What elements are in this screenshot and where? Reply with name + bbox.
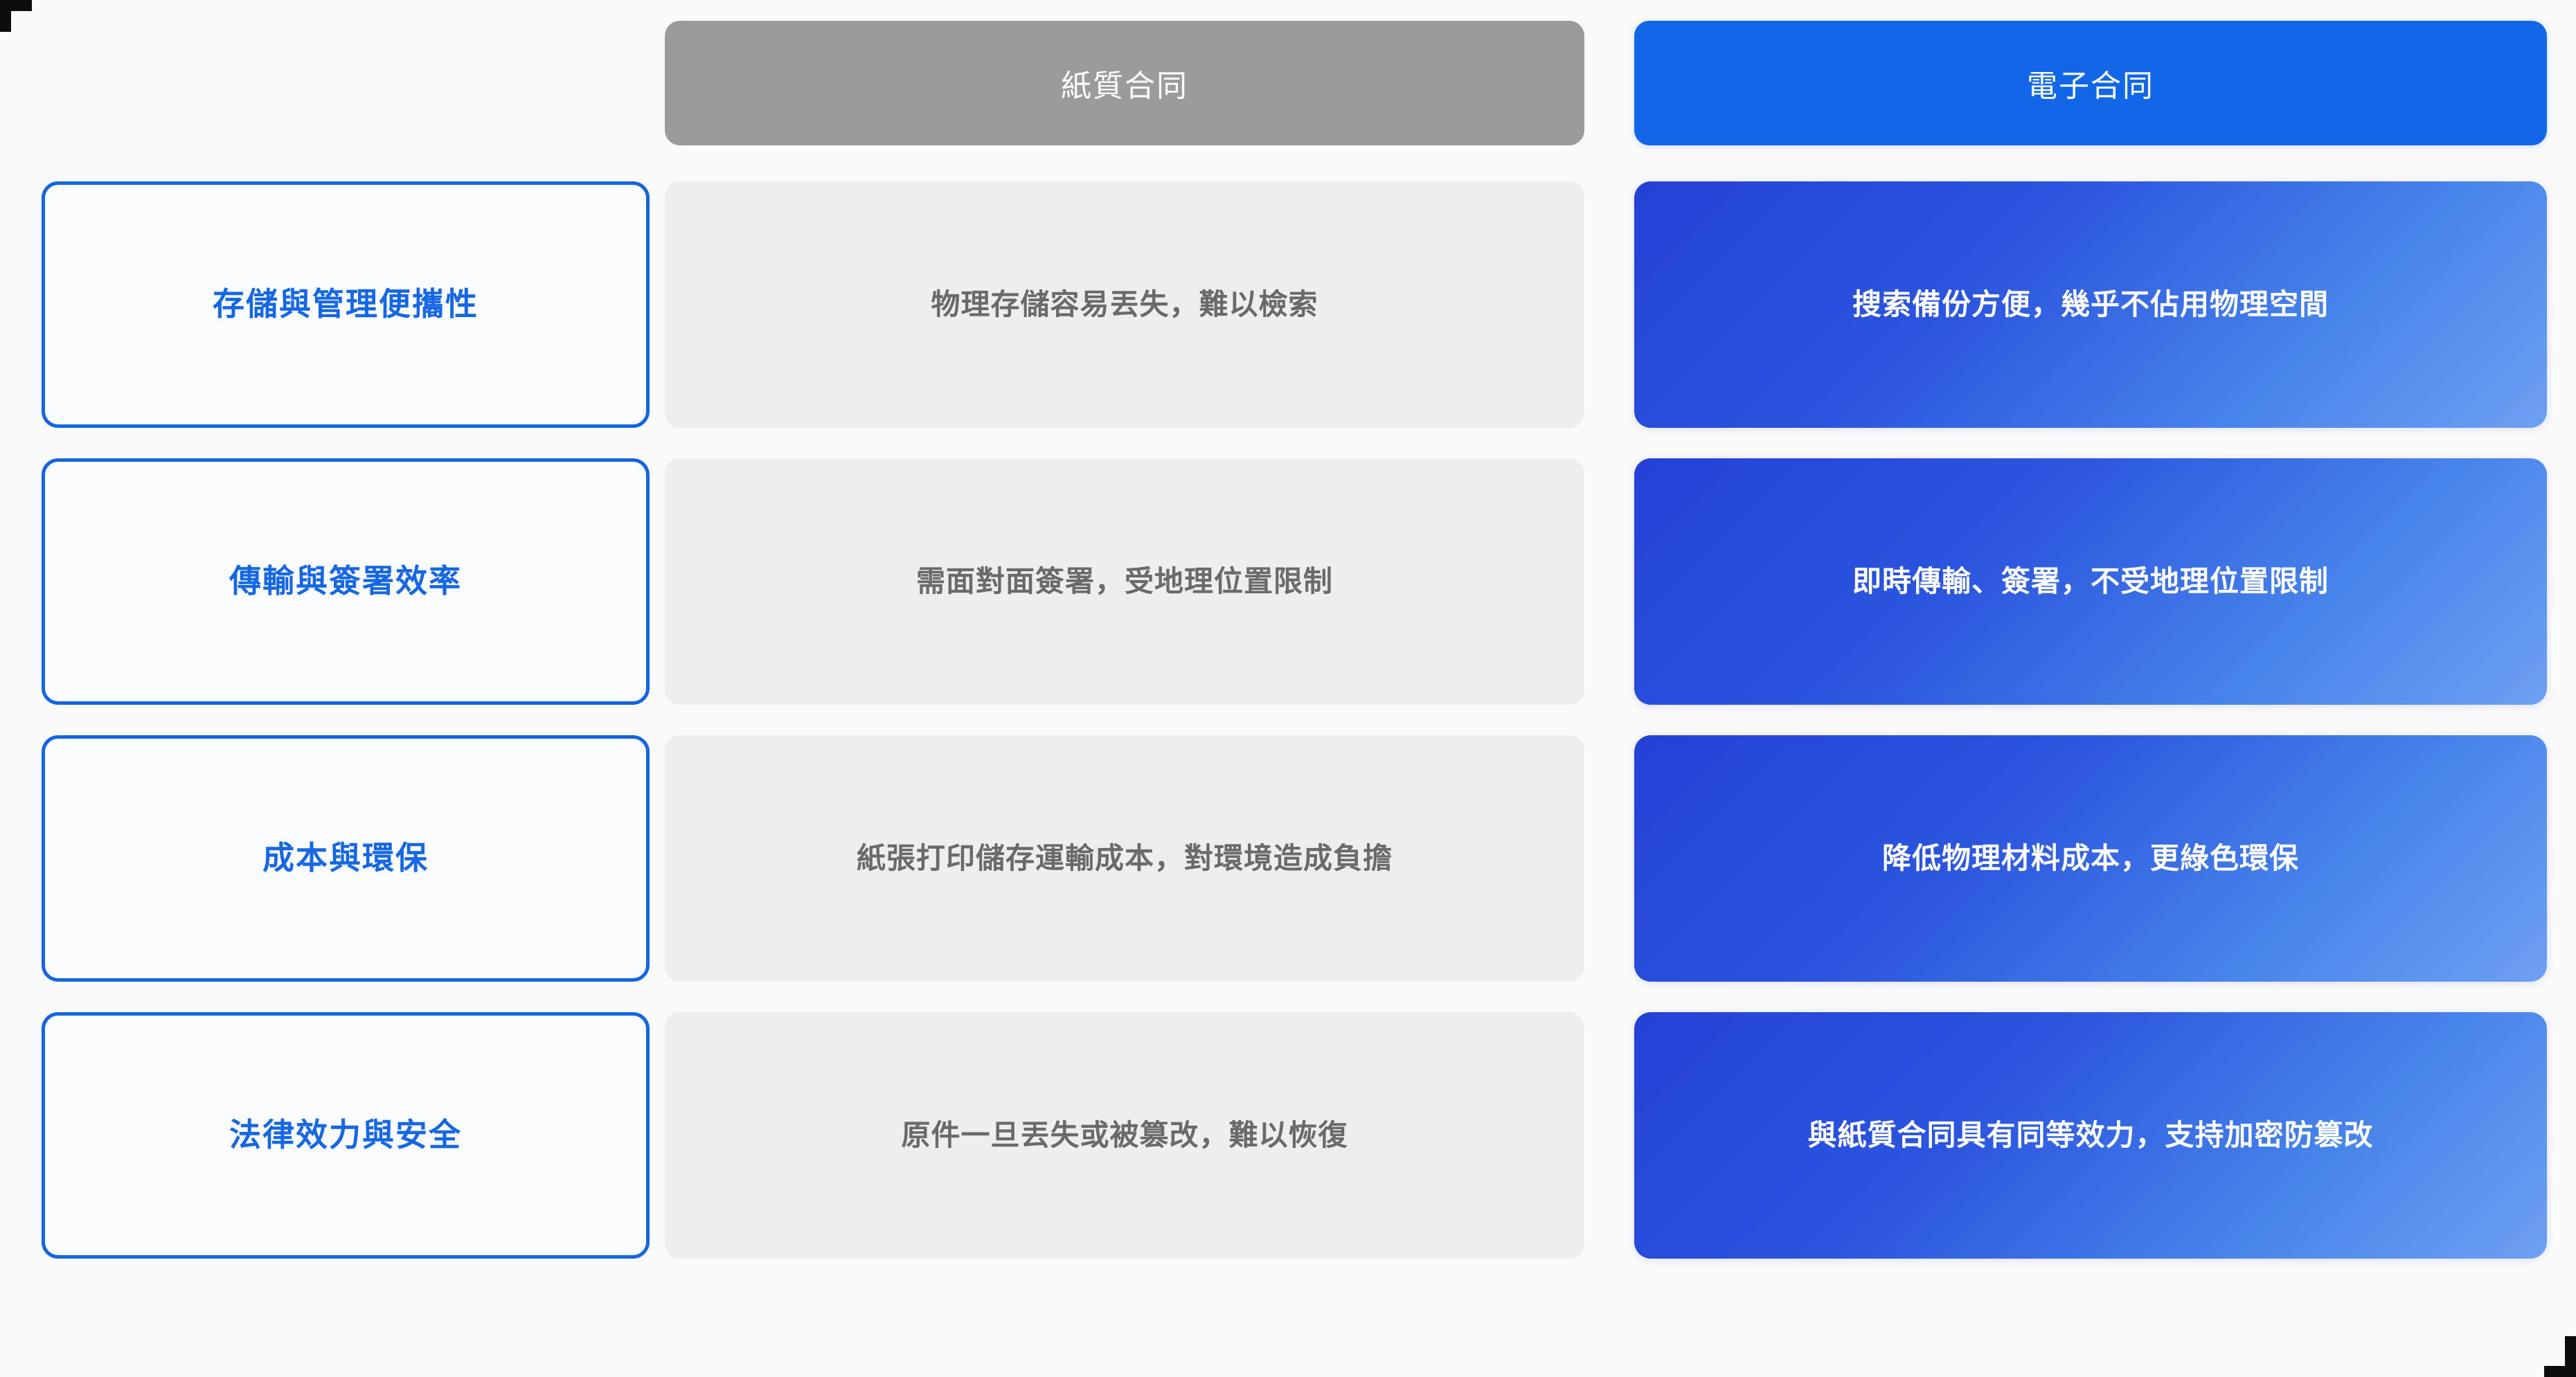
cell-electronic: 搜索備份方便，幾乎不佔用物理空間 xyxy=(1634,181,2547,428)
cell-paper: 物理存儲容易丟失，難以檢索 xyxy=(665,181,1584,428)
row-label-text: 法律效力與安全 xyxy=(229,1115,462,1156)
row-label-card: 成本與環保 xyxy=(42,735,650,982)
row-label-text: 傳輸與簽署效率 xyxy=(229,561,462,602)
crop-mark-bottom-right-horizontal xyxy=(2544,1366,2576,1377)
row-label-card: 傳輸與簽署效率 xyxy=(42,458,650,705)
cell-paper-text: 紙張打印儲存運輸成本，對環境造成負擔 xyxy=(857,838,1393,879)
cell-electronic-text: 搜索備份方便，幾乎不佔用物理空間 xyxy=(1852,285,2329,325)
row-label-text: 成本與環保 xyxy=(262,838,429,879)
column-header-paper-contract: 紙質合同 xyxy=(665,21,1584,145)
cell-electronic-text: 與紙質合同具有同等效力，支持加密防篡改 xyxy=(1807,1115,2373,1156)
contract-comparison-table: 紙質合同 電子合同 存儲與管理便攜性 物理存儲容易丟失，難以檢索 搜索備份方便，… xyxy=(0,0,2576,1377)
cell-paper-text: 原件一旦丟失或被篡改，難以恢復 xyxy=(901,1115,1348,1156)
cell-electronic-text: 即時傳輸、簽署，不受地理位置限制 xyxy=(1852,561,2329,602)
cell-electronic: 與紙質合同具有同等效力，支持加密防篡改 xyxy=(1634,1012,2547,1259)
cell-electronic: 即時傳輸、簽署，不受地理位置限制 xyxy=(1634,458,2547,705)
row-label-card: 存儲與管理便攜性 xyxy=(42,181,650,428)
column-header-electronic-contract: 電子合同 xyxy=(1634,21,2547,145)
cell-paper: 紙張打印儲存運輸成本，對環境造成負擔 xyxy=(665,735,1584,982)
crop-mark-top-left-horizontal xyxy=(0,0,32,11)
row-label-card: 法律效力與安全 xyxy=(42,1012,650,1259)
cell-paper-text: 需面對面簽署，受地理位置限制 xyxy=(916,561,1333,602)
cell-paper-text: 物理存儲容易丟失，難以檢索 xyxy=(931,285,1318,325)
column-header-electronic-contract-label: 電子合同 xyxy=(2027,61,2154,105)
cell-paper: 原件一旦丟失或被篡改，難以恢復 xyxy=(665,1012,1584,1259)
cell-electronic-text: 降低物理材料成本，更綠色環保 xyxy=(1882,838,2299,879)
cell-electronic: 降低物理材料成本，更綠色環保 xyxy=(1634,735,2547,982)
cell-paper: 需面對面簽署，受地理位置限制 xyxy=(665,458,1584,705)
column-header-paper-contract-label: 紙質合同 xyxy=(1061,61,1188,105)
row-label-text: 存儲與管理便攜性 xyxy=(213,284,478,325)
